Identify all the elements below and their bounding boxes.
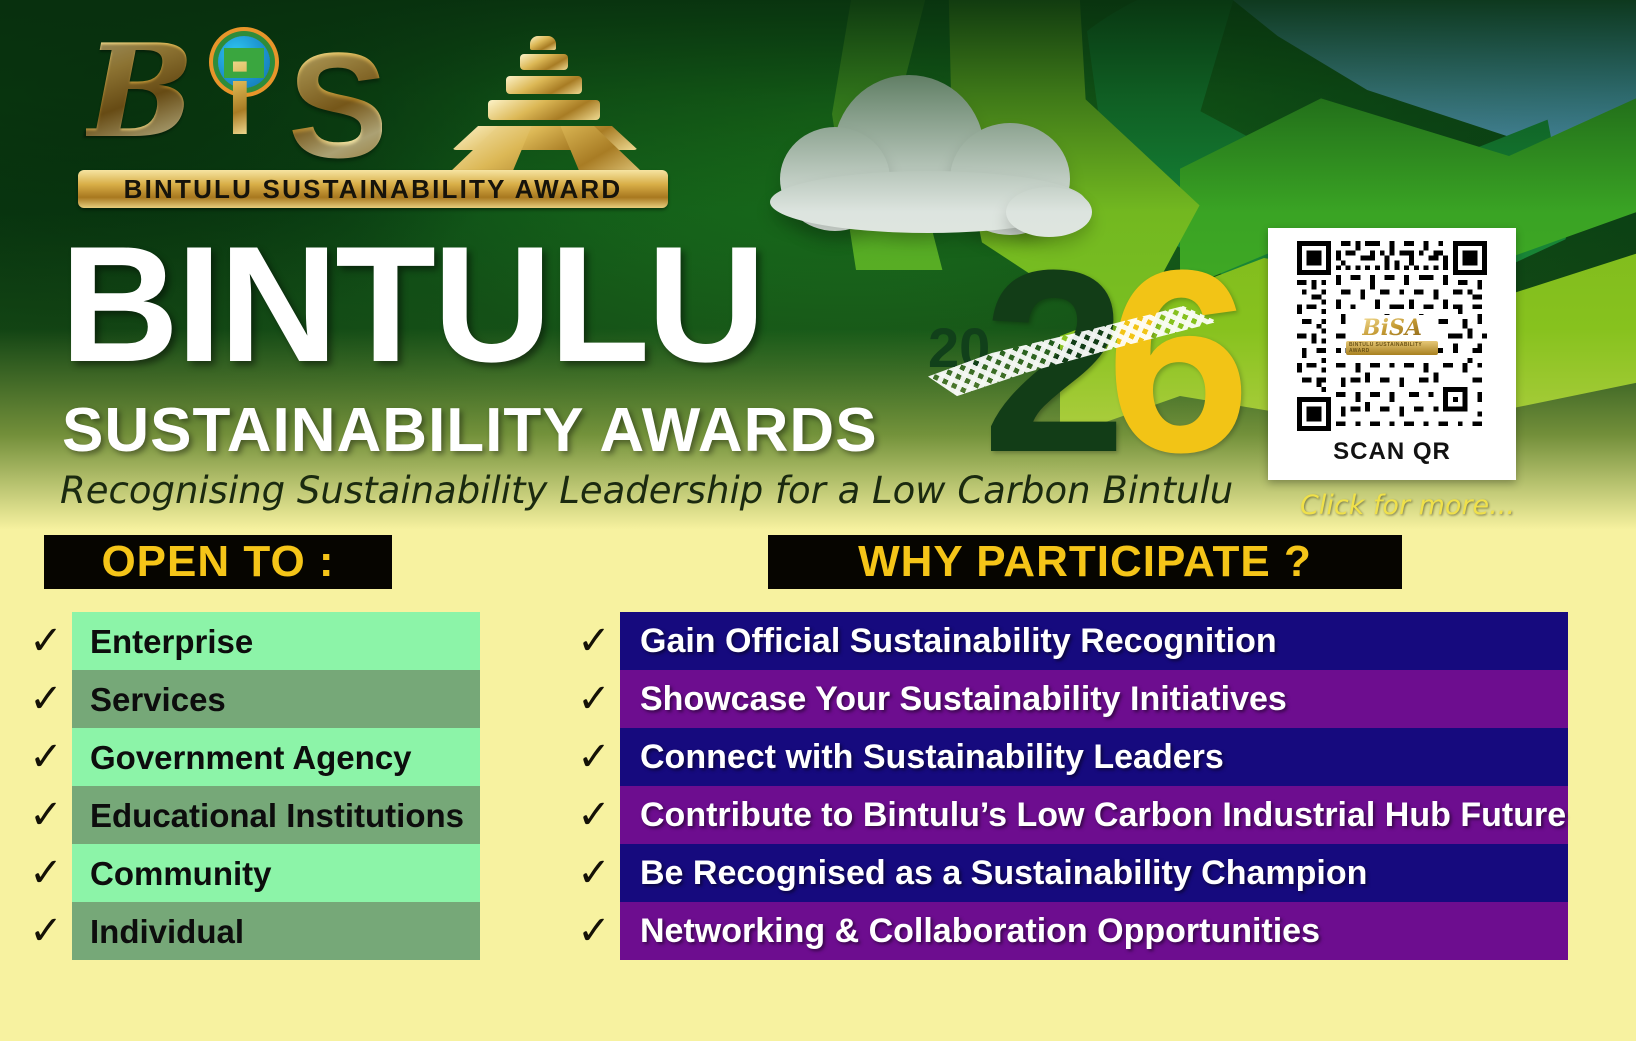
check-icon: ✓ [20,679,72,719]
check-icon: ✓ [568,621,620,661]
why-participate-item-pill: Gain Official Sustainability Recognition [620,612,1568,670]
scan-qr-label: SCAN QR [1333,438,1451,466]
qr-embedded-logo-text: BiSA [1362,317,1422,339]
open-to-item-label: Community [90,857,272,890]
check-icon: ✓ [568,853,620,893]
qr-embedded-logo-sub: BINTULU SUSTAINABILITY AWARD [1346,341,1438,355]
list-item: ✓ Gain Official Sustainability Recogniti… [568,612,1568,670]
open-to-item-pill: Individual [72,902,480,960]
list-item: ✓ Be Recognised as a Sustainability Cham… [568,844,1568,902]
open-to-item-label: Individual [90,915,244,948]
cloud-graphic [770,75,1090,235]
why-participate-item-label: Gain Official Sustainability Recognition [640,624,1277,658]
why-participate-item-pill: Networking & Collaboration Opportunities [620,902,1568,960]
poster-subtitle: SUSTAINABILITY AWARDS [62,400,878,462]
check-icon: ✓ [20,621,72,661]
logo-letter-b: B [86,28,194,156]
logo-nameplate: BINTULU SUSTAINABILITY AWARD [78,170,668,208]
list-item: ✓ Connect with Sustainability Leaders [568,728,1568,786]
list-item: ✓ Networking & Collaboration Opportuniti… [568,902,1568,960]
list-item: ✓ Individual [20,902,480,960]
check-icon: ✓ [568,679,620,719]
why-participate-item-label: Contribute to Bintulu’s Low Carbon Indus… [640,798,1566,832]
qr-card[interactable]: BiSA BINTULU SUSTAINABILITY AWARD SCAN Q… [1268,228,1516,480]
list-item: ✓ Contribute to Bintulu’s Low Carbon Ind… [568,786,1568,844]
list-item: ✓ Services [20,670,480,728]
bisa-logo-mark: B i S [78,22,678,162]
why-participate-heading-banner: WHY PARTICIPATE ? [768,535,1402,589]
why-participate-list: ✓ Gain Official Sustainability Recogniti… [568,612,1568,960]
bisa-logo: B i S BINTULU SUSTAINABILITY AWARD [78,22,678,212]
open-to-item-pill: Educational Institutions [72,786,480,844]
check-icon: ✓ [20,737,72,777]
check-icon: ✓ [20,853,72,893]
qr-code-image[interactable]: BiSA BINTULU SUSTAINABILITY AWARD [1290,236,1494,436]
open-to-item-pill: Community [72,844,480,902]
why-participate-item-pill: Contribute to Bintulu’s Low Carbon Indus… [620,786,1568,844]
year-prefix-20: 20 [928,320,990,376]
poster-title: BINTULU [60,222,763,387]
list-item: ✓ Community [20,844,480,902]
year-digit-2: 2 [982,232,1127,492]
year-digit-6: 6 [1106,232,1251,492]
why-participate-item-label: Connect with Sustainability Leaders [640,740,1224,774]
logo-letter-i: i [226,50,254,150]
check-icon: ✓ [568,795,620,835]
why-participate-item-label: Be Recognised as a Sustainability Champi… [640,856,1367,890]
why-participate-heading-text: WHY PARTICIPATE ? [858,537,1312,587]
open-to-item-label: Services [90,683,226,716]
list-item: ✓ Enterprise [20,612,480,670]
open-to-heading-banner: OPEN TO : [44,535,392,589]
list-item: ✓ Showcase Your Sustainability Initiativ… [568,670,1568,728]
list-item: ✓ Educational Institutions [20,786,480,844]
open-to-item-pill: Services [72,670,480,728]
open-to-item-label: Enterprise [90,625,253,658]
check-icon: ✓ [568,911,620,951]
open-to-item-pill: Government Agency [72,728,480,786]
check-icon: ✓ [20,911,72,951]
logo-letter-s: S [288,30,382,180]
why-participate-item-pill: Connect with Sustainability Leaders [620,728,1568,786]
logo-tower-a-icon [426,32,666,172]
why-participate-item-pill: Be Recognised as a Sustainability Champi… [620,844,1568,902]
check-icon: ✓ [20,795,72,835]
year-graphic: 2 6 20 [920,238,1220,493]
open-to-item-label: Educational Institutions [90,799,464,832]
open-to-heading-text: OPEN TO : [101,537,334,587]
why-participate-item-label: Showcase Your Sustainability Initiatives [640,682,1287,716]
check-icon: ✓ [568,737,620,777]
poster-root: B i S BINTULU SUSTAINABILITY AWARD BINTU… [0,0,1636,1041]
qr-embedded-logo: BiSA BINTULU SUSTAINABILITY AWARD [1346,315,1438,357]
logo-nameplate-text: BINTULU SUSTAINABILITY AWARD [124,174,623,205]
open-to-item-label: Government Agency [90,741,412,774]
why-participate-item-label: Networking & Collaboration Opportunities [640,914,1320,948]
click-for-more-link[interactable]: Click for more... [1300,490,1515,521]
why-participate-item-pill: Showcase Your Sustainability Initiatives [620,670,1568,728]
open-to-list: ✓ Enterprise ✓ Services ✓ Government Age… [20,612,480,960]
open-to-item-pill: Enterprise [72,612,480,670]
list-item: ✓ Government Agency [20,728,480,786]
